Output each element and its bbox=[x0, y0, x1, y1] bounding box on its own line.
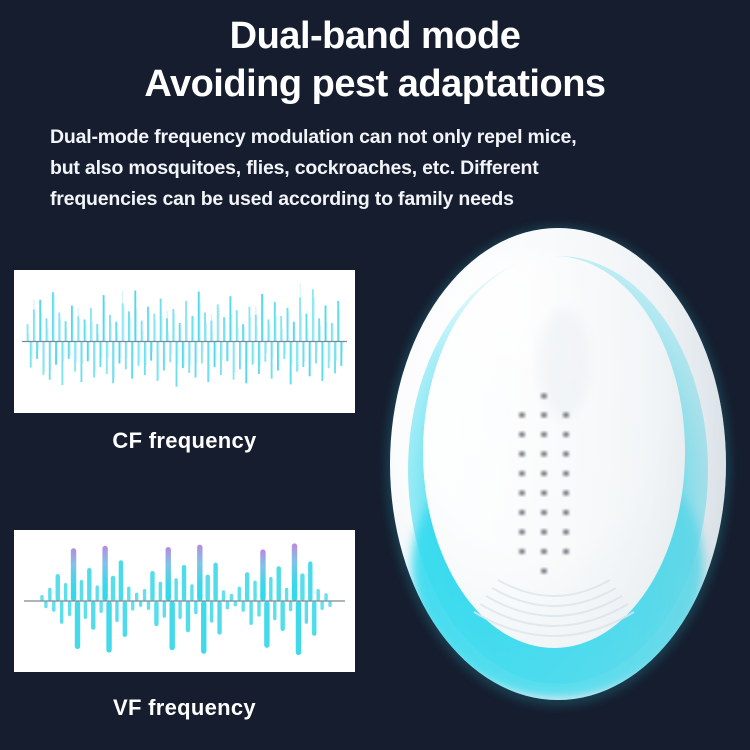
vf-frequency-label: VF frequency bbox=[14, 695, 355, 721]
device-reflection bbox=[538, 308, 590, 420]
cf-waveform-panel bbox=[14, 270, 355, 413]
device-highlight bbox=[424, 248, 632, 480]
ultrasonic-pest-repeller-illustration bbox=[378, 214, 738, 714]
description-line-3: frequencies can be used according to fam… bbox=[50, 184, 710, 215]
device-image bbox=[378, 214, 738, 714]
description-text: Dual-mode frequency modulation can not o… bbox=[50, 122, 710, 215]
cf-waveform-chart bbox=[14, 270, 355, 413]
product-feature-graphic: Dual-band mode Avoiding pest adaptations… bbox=[0, 0, 750, 750]
headline-line-1: Dual-band mode bbox=[0, 12, 750, 60]
cf-frequency-label: CF frequency bbox=[14, 428, 355, 454]
headline: Dual-band mode Avoiding pest adaptations bbox=[0, 12, 750, 108]
vf-waveform-chart bbox=[14, 530, 355, 672]
description-line-1: Dual-mode frequency modulation can not o… bbox=[50, 122, 710, 153]
vf-waveform-panel bbox=[14, 530, 355, 672]
headline-line-2: Avoiding pest adaptations bbox=[0, 60, 750, 108]
description-line-2: but also mosquitoes, flies, cockroaches,… bbox=[50, 153, 710, 184]
